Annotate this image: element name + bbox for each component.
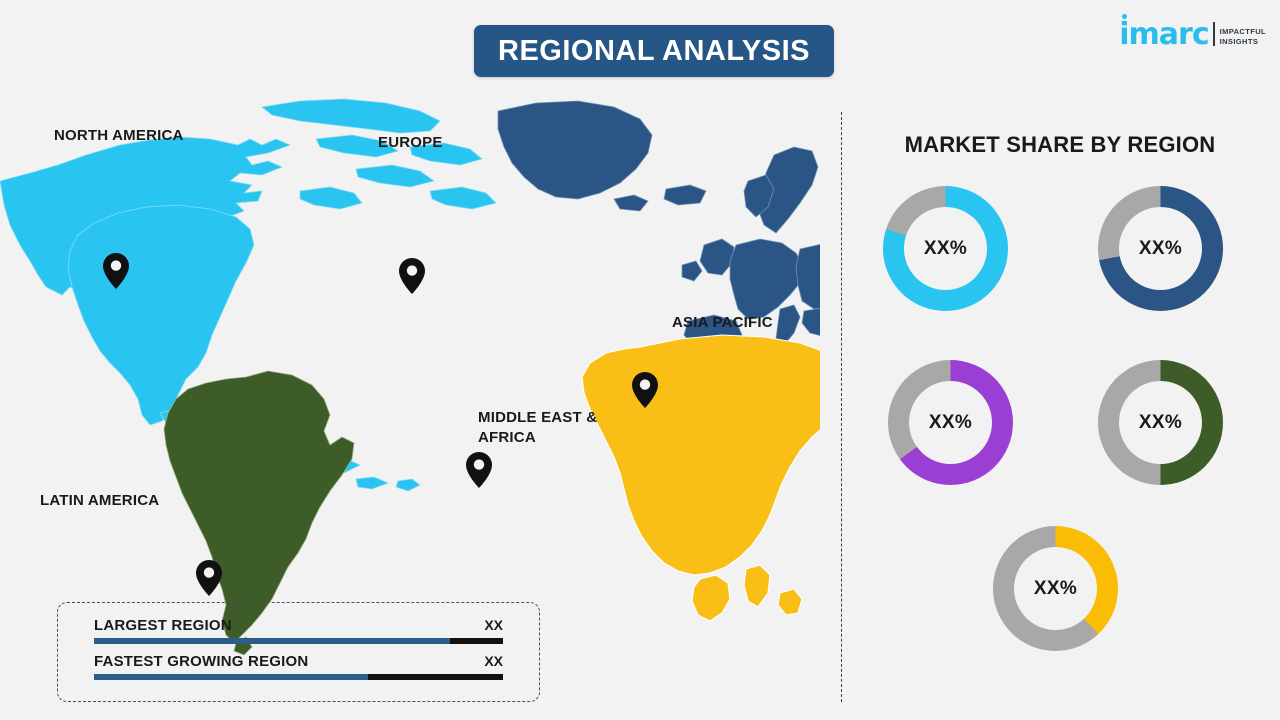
donut-chart-group: XX% XX% XX% XX% XX% bbox=[855, 178, 1265, 688]
section-divider bbox=[841, 112, 842, 702]
map-pin-latin-america[interactable] bbox=[196, 560, 222, 596]
map-pin-asia-pacific[interactable] bbox=[632, 372, 658, 408]
donut-chart-middle-east-africa[interactable]: XX% bbox=[993, 526, 1118, 651]
map-pin-europe[interactable] bbox=[399, 258, 425, 294]
logo-tagline-line2: INSIGHTS bbox=[1220, 37, 1266, 47]
donut-center: XX% bbox=[909, 381, 992, 464]
donut-value: XX% bbox=[1034, 578, 1077, 600]
donut-center: XX% bbox=[1014, 547, 1097, 630]
logo-word: imarc bbox=[1119, 22, 1208, 48]
donut-center: XX% bbox=[904, 207, 987, 290]
map-label-europe: EUROPE bbox=[378, 133, 443, 153]
donut-value: XX% bbox=[929, 412, 972, 434]
donut-center: XX% bbox=[1119, 207, 1202, 290]
logo-wordmark: imarc bbox=[1119, 22, 1208, 48]
summary-value: XX bbox=[484, 653, 503, 669]
imarc-logo: imarc IMPACTFUL INSIGHTS bbox=[1119, 22, 1266, 48]
donut-center: XX% bbox=[1119, 381, 1202, 464]
summary-row-fastest-growing-region: FASTEST GROWING REGION XX bbox=[94, 653, 503, 680]
donut-value: XX% bbox=[1139, 412, 1182, 434]
summary-value: XX bbox=[484, 617, 503, 633]
map-pin-middle-east-africa[interactable] bbox=[466, 452, 492, 488]
logo-tagline: IMPACTFUL INSIGHTS bbox=[1220, 27, 1266, 46]
map-label-asia-pacific: ASIA PACIFIC bbox=[672, 313, 773, 333]
map-label-middle-east-africa: MIDDLE EAST & AFRICA bbox=[478, 408, 597, 448]
summary-progress-track bbox=[94, 638, 503, 644]
summary-label: LARGEST REGION bbox=[94, 617, 232, 634]
donut-value: XX% bbox=[1139, 238, 1182, 260]
donut-chart-europe[interactable]: XX% bbox=[1098, 186, 1223, 311]
market-share-title: MARKET SHARE BY REGION bbox=[860, 132, 1260, 158]
world-map-svg bbox=[0, 95, 820, 655]
donut-chart-asia-pacific[interactable]: XX% bbox=[888, 360, 1013, 485]
donut-value: XX% bbox=[924, 238, 967, 260]
summary-progress-track bbox=[94, 674, 503, 680]
summary-row-largest-region: LARGEST REGION XX bbox=[94, 617, 503, 644]
map-pin-north-america[interactable] bbox=[103, 253, 129, 289]
summary-label: FASTEST GROWING REGION bbox=[94, 653, 308, 670]
region-summary-box: LARGEST REGION XX FASTEST GROWING REGION… bbox=[57, 602, 540, 702]
logo-tagline-line1: IMPACTFUL bbox=[1220, 27, 1266, 37]
world-map bbox=[0, 95, 820, 655]
logo-divider bbox=[1213, 22, 1215, 46]
infographic-canvas: REGIONAL ANALYSIS imarc IMPACTFUL INSIGH… bbox=[0, 0, 1280, 720]
donut-chart-north-america[interactable]: XX% bbox=[883, 186, 1008, 311]
page-title: REGIONAL ANALYSIS bbox=[498, 35, 810, 68]
map-label-latin-america: LATIN AMERICA bbox=[40, 491, 159, 511]
map-region-middle-east-africa bbox=[582, 315, 820, 621]
summary-progress-fill bbox=[94, 638, 450, 644]
summary-progress-fill bbox=[94, 674, 368, 680]
map-label-north-america: NORTH AMERICA bbox=[54, 126, 184, 146]
page-title-banner: REGIONAL ANALYSIS bbox=[474, 25, 834, 77]
donut-chart-latin-america[interactable]: XX% bbox=[1098, 360, 1223, 485]
